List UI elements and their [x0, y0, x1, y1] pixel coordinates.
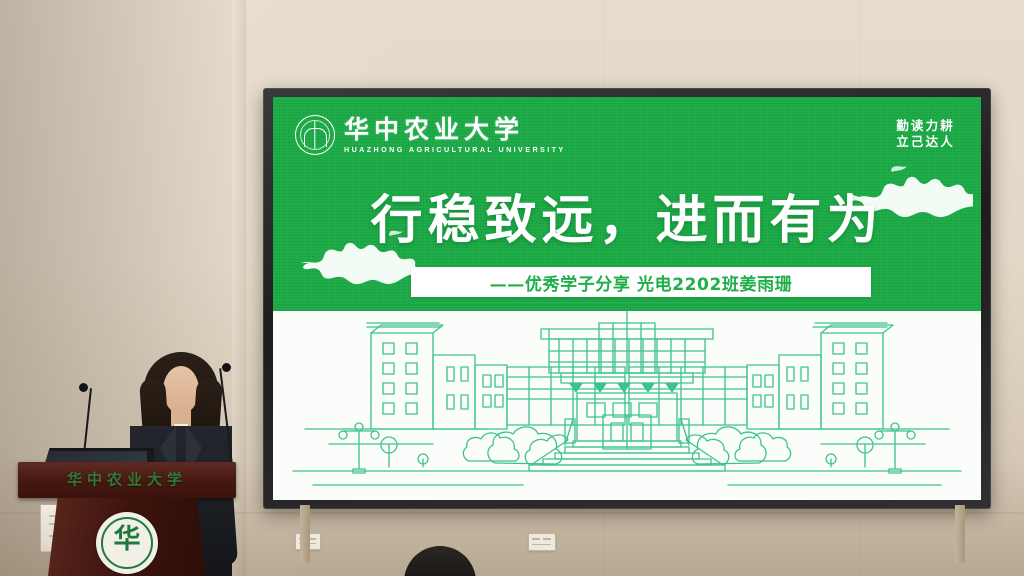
microphone-left-icon	[79, 383, 88, 392]
microphone-right-icon	[222, 363, 231, 372]
university-logo: 华中农业大学 HUAZHONG AGRICULTURAL UNIVERSITY	[295, 115, 566, 155]
slide-title: 行稳致远，进而有为	[273, 195, 981, 247]
screen-mount-left	[300, 505, 310, 563]
lectern-top: 华中农业大学	[18, 462, 236, 498]
slide-subtitle: ——优秀学子分享 光电2202班姜雨珊	[490, 270, 793, 295]
lectern-university-text: 华中农业大学	[67, 468, 187, 489]
slide-green-panel: 华中农业大学 HUAZHONG AGRICULTURAL UNIVERSITY …	[273, 97, 981, 311]
motto-line-1: 勤读力耕	[896, 118, 955, 134]
lectern: 华中农业大学 华	[18, 462, 236, 576]
university-name-en: HUAZHONG AGRICULTURAL UNIVERSITY	[344, 146, 566, 153]
motto-line-2: 立己达人	[896, 134, 955, 150]
presenter-face	[163, 366, 199, 414]
presentation-slide: 华中农业大学 HUAZHONG AGRICULTURAL UNIVERSITY …	[273, 97, 981, 500]
lectern-emblem: 华	[96, 512, 158, 574]
campus-building-illustration	[273, 311, 981, 500]
university-crest-icon	[295, 115, 335, 155]
screen-mount-right	[955, 505, 965, 563]
led-screen-display[interactable]: 华中农业大学 HUAZHONG AGRICULTURAL UNIVERSITY …	[273, 97, 981, 500]
slide-subtitle-bar: ——优秀学子分享 光电2202班姜雨珊	[411, 267, 871, 297]
lecture-hall-scene: 华中农业大学 HUAZHONG AGRICULTURAL UNIVERSITY …	[0, 0, 1024, 576]
university-name-cn: 华中农业大学	[344, 117, 566, 142]
slide-white-panel	[273, 311, 981, 500]
wall-outlet-right	[528, 533, 556, 551]
lectern-emblem-glyph: 华	[114, 526, 141, 553]
university-motto: 勤读力耕 立己达人	[896, 118, 955, 150]
